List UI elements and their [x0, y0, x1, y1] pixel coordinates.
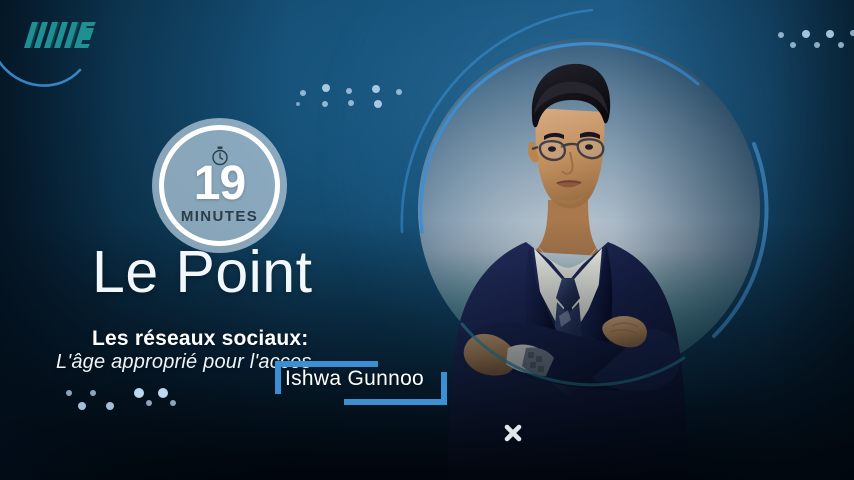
decor-dot — [322, 84, 330, 92]
decor-dot — [106, 402, 114, 410]
program-subtitle-line1: Les réseaux sociaux: — [92, 327, 308, 351]
decor-dot — [348, 100, 354, 106]
timer-badge: 19 MINUTES — [152, 118, 287, 253]
decor-dot — [790, 42, 796, 48]
decor-dot — [66, 390, 72, 396]
mbc-logo[interactable] — [18, 14, 114, 58]
decor-dot — [158, 388, 168, 398]
decor-dot — [346, 88, 352, 94]
decor-dot — [850, 30, 854, 36]
speaker-name: Ishwa Gunnoo — [285, 367, 424, 391]
decor-dot — [838, 42, 844, 48]
decor-dot — [778, 32, 784, 38]
broadcast-graphic-stage: 19 MINUTES Le Point Les réseaux sociaux:… — [0, 0, 854, 480]
decor-dot — [814, 42, 820, 48]
decor-dot — [826, 30, 834, 38]
dots-top-right — [772, 12, 854, 50]
decor-dot — [90, 390, 96, 396]
mouse-cursor-x — [501, 421, 525, 445]
decor-dot — [78, 402, 86, 410]
dots-bottom-left — [62, 386, 202, 420]
decorative-arc-top-right — [396, 6, 696, 236]
timer-badge-number: 19 — [194, 162, 245, 206]
decor-dot — [134, 388, 144, 398]
decor-dot — [146, 400, 152, 406]
decor-dot — [396, 89, 402, 95]
decor-dot — [374, 100, 382, 108]
decorative-arc-left — [0, 54, 116, 100]
program-subtitle-line2: L'âge approprié pour l'acces — [56, 351, 312, 374]
decor-dot — [372, 85, 380, 93]
decor-dot — [296, 102, 300, 106]
decor-dot — [802, 30, 810, 38]
decor-dot — [300, 90, 306, 96]
timer-badge-label: MINUTES — [181, 208, 258, 225]
program-title: Le Point — [92, 243, 313, 302]
decor-dot — [170, 400, 176, 406]
dots-top-center — [296, 76, 406, 116]
decor-dot — [322, 101, 328, 107]
